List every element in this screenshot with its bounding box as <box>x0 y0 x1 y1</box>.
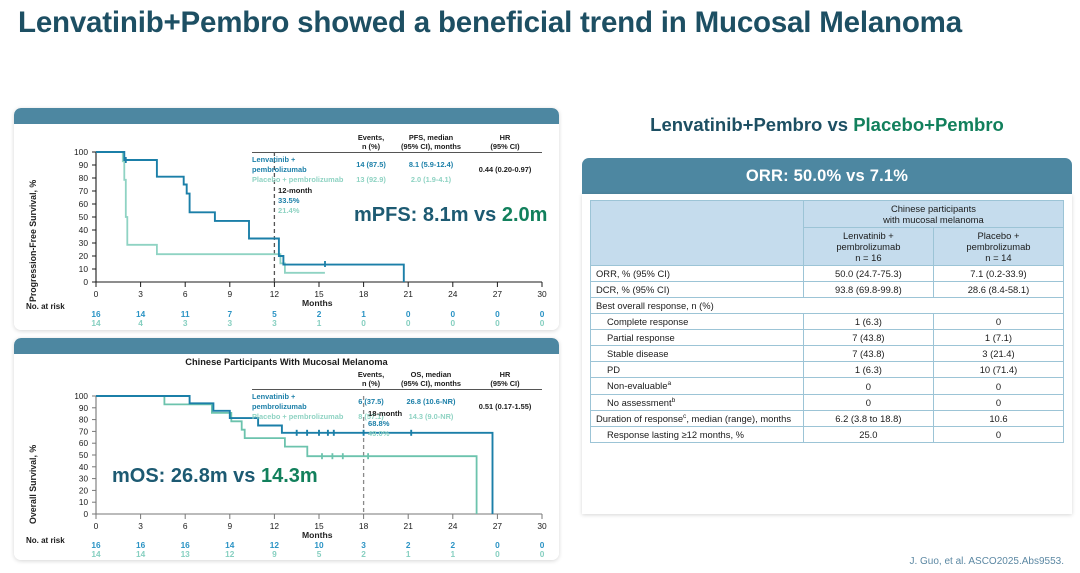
pfs-legend-name-placebo: Placebo + pembrolizumab <box>252 175 350 185</box>
table-header-group: Chinese participants with mucosal melano… <box>803 201 1063 228</box>
os-risk-plac-15: 5 <box>308 549 330 559</box>
row-label-best-overall-response: Best overall response, n (%) <box>591 298 1064 314</box>
svg-text:90: 90 <box>79 160 89 170</box>
pfs-risk-plac-12: 3 <box>263 318 285 328</box>
row-value-sd-placebo: 3 (21.4) <box>933 346 1063 362</box>
table-row: Stable disease 7 (43.8) 3 (21.4) <box>591 346 1064 362</box>
slide-root: Lenvatinib+Pembro showed a beneficial tr… <box>0 0 1080 573</box>
pfs-risk-plac-21: 0 <box>397 318 419 328</box>
os-callout-highlight: 14.3m <box>261 465 318 487</box>
table-row: Best overall response, n (%) <box>591 298 1064 314</box>
right-heading-part1: Lenvatinib+Pembro vs <box>650 114 853 135</box>
row-value-rl12-lenvatinib: 25.0 <box>803 426 933 442</box>
os-milestone-lenvatinib: 68.8% <box>368 419 402 429</box>
table-header-row-group: Chinese participants with mucosal melano… <box>591 201 1064 228</box>
row-value-na-lenvatinib: 0 <box>803 394 933 410</box>
svg-text:80: 80 <box>79 416 89 425</box>
svg-text:9: 9 <box>227 521 232 531</box>
response-table-head: Chinese participants with mucosal melano… <box>591 201 1064 266</box>
svg-text:12: 12 <box>270 521 280 531</box>
svg-text:40: 40 <box>79 225 89 235</box>
os-card-body: Chinese Participants With Mucosal Melano… <box>14 354 559 560</box>
svg-text:60: 60 <box>79 439 89 448</box>
right-heading-part2: Placebo+Pembro <box>853 114 1004 135</box>
pfs-legend-events-placebo: 13 (92.9) <box>350 175 392 185</box>
footnote-marker-b: b <box>672 397 676 404</box>
table-header-blank <box>591 201 804 266</box>
svg-text:18: 18 <box>359 289 369 299</box>
svg-text:20: 20 <box>79 486 89 495</box>
table-row: Non-evaluablea 0 0 <box>591 378 1064 394</box>
pfs-y-axis-label: Progression-Free Survival, % <box>28 180 38 302</box>
svg-text:30: 30 <box>79 475 89 484</box>
row-value-pd-lenvatinib: 1 (6.3) <box>803 362 933 378</box>
svg-text:40: 40 <box>79 463 89 472</box>
row-value-rl12-placebo: 0 <box>933 426 1063 442</box>
os-chart-subtitle: Chinese Participants With Mucosal Melano… <box>14 357 559 367</box>
svg-text:0: 0 <box>83 510 88 519</box>
os-legend-name-placebo: Placebo + pembrolizumab <box>252 412 350 422</box>
os-risk-plac-18: 2 <box>353 549 375 559</box>
pfs-card-header-bar <box>14 108 559 124</box>
os-chart-card: Chinese Participants With Mucosal Melano… <box>14 338 559 560</box>
os-y-axis-label: Overall Survival, % <box>28 445 38 524</box>
group-header-line1: Chinese participants <box>891 203 976 214</box>
os-milestone-annotation: 18-month 68.8% 49.0% <box>368 409 402 439</box>
orr-banner: ORR: 50.0% vs 7.1% <box>582 158 1072 194</box>
response-table-card: Chinese participants with mucosal melano… <box>582 194 1072 514</box>
table-row: Duration of responsec, median (range), m… <box>591 410 1064 426</box>
svg-text:0: 0 <box>94 521 99 531</box>
svg-text:12: 12 <box>270 289 280 299</box>
svg-text:80: 80 <box>79 173 89 183</box>
pfs-milestone-annotation: 12-month 33.5% 21.4% <box>278 186 312 216</box>
svg-text:30: 30 <box>537 289 547 299</box>
os-legend-header-row: Events, n (%) OS, median (95% CI), month… <box>252 371 542 388</box>
row-label-pd: PD <box>591 362 804 378</box>
pfs-x-axis-label: Months <box>302 298 333 308</box>
os-legend-row-placebo: Placebo + pembrolizumab 8 (57.1) 14.3 (9… <box>252 412 470 422</box>
response-table: Chinese participants with mucosal melano… <box>590 200 1064 443</box>
svg-text:0: 0 <box>94 289 99 299</box>
row-value-pr-placebo: 1 (7.1) <box>933 330 1063 346</box>
svg-text:60: 60 <box>79 199 89 209</box>
pfs-legend-header-row: Events, n (%) PFS, median (95% CI), mont… <box>252 134 542 151</box>
svg-text:20: 20 <box>79 251 89 261</box>
svg-text:27: 27 <box>493 289 503 299</box>
table-row: Response lasting ≥12 months, % 25.0 0 <box>591 426 1064 442</box>
os-risk-label: No. at risk <box>26 536 65 545</box>
os-risk-plac-30: 0 <box>531 549 553 559</box>
svg-text:27: 27 <box>493 521 503 531</box>
pfs-milestone-title: 12-month <box>278 186 312 196</box>
svg-text:9: 9 <box>227 289 232 299</box>
svg-text:21: 21 <box>404 521 414 531</box>
pfs-legend-rule <box>252 152 542 153</box>
os-legend-header-median: OS, median (95% CI), months <box>392 371 470 388</box>
row-value-dcr-lenvatinib: 93.8 (69.8-99.8) <box>803 282 933 298</box>
page-title: Lenvatinib+Pembro showed a beneficial tr… <box>18 6 1028 39</box>
os-risk-plac-12: 9 <box>263 549 285 559</box>
os-legend-rule <box>252 389 542 390</box>
table-row: Complete response 1 (6.3) 0 <box>591 314 1064 330</box>
row-label-no-assessment: No assessmentb <box>591 394 804 410</box>
pfs-legend-row-lenvatinib: Lenvatinib + pembrolizumab 14 (87.5) 8.1… <box>252 155 470 175</box>
row-value-dor-placebo: 10.6 <box>933 410 1063 426</box>
os-legend-median-placebo: 14.3 (9.0-NR) <box>392 412 470 422</box>
pfs-legend-header-median: PFS, median (95% CI), months <box>392 134 470 151</box>
row-value-dor-lenvatinib: 6.2 (3.8 to 18.8) <box>803 410 933 426</box>
row-label-dcr: DCR, % (95% CI) <box>591 282 804 298</box>
row-label-response-lasting-12mo: Response lasting ≥12 months, % <box>591 426 804 442</box>
svg-text:24: 24 <box>448 521 458 531</box>
row-value-dcr-placebo: 28.6 (8.4-58.1) <box>933 282 1063 298</box>
pfs-callout-highlight: 2.0m <box>502 204 548 226</box>
os-risk-plac-24: 1 <box>442 549 464 559</box>
svg-text:30: 30 <box>537 521 547 531</box>
table-row: ORR, % (95% CI) 50.0 (24.7-75.3) 7.1 (0.… <box>591 266 1064 282</box>
pfs-legend-header-events: Events, n (%) <box>350 134 392 151</box>
pfs-legend-row-placebo: Placebo + pembrolizumab 13 (92.9) 2.0 (1… <box>252 175 470 185</box>
pfs-legend-name-lenvatinib: Lenvatinib + pembrolizumab <box>252 155 350 175</box>
pfs-legend-events-lenvatinib: 14 (87.5) <box>350 160 392 170</box>
svg-text:21: 21 <box>404 289 414 299</box>
row-label-partial-response: Partial response <box>591 330 804 346</box>
os-risk-plac-21: 1 <box>397 549 419 559</box>
table-header-arm-placebo: Placebo + pembrolizumab n = 14 <box>933 228 1063 266</box>
pfs-legend-hr-value: 0.44 (0.20-0.97) <box>470 165 540 174</box>
os-risk-plac-0: 14 <box>85 549 107 559</box>
row-label-complete-response: Complete response <box>591 314 804 330</box>
os-risk-plac-3: 14 <box>130 549 152 559</box>
row-value-ne-placebo: 0 <box>933 378 1063 394</box>
table-row: PD 1 (6.3) 10 (71.4) <box>591 362 1064 378</box>
row-value-cr-placebo: 0 <box>933 314 1063 330</box>
os-risk-plac-27: 0 <box>486 549 508 559</box>
pfs-risk-plac-30: 0 <box>531 318 553 328</box>
svg-text:100: 100 <box>74 392 88 401</box>
row-value-sd-lenvatinib: 7 (43.8) <box>803 346 933 362</box>
svg-text:3: 3 <box>138 289 143 299</box>
pfs-risk-plac-15: 1 <box>308 318 330 328</box>
os-callout: mOS: 26.8m vs 14.3m <box>112 465 318 488</box>
os-legend-name-lenvatinib: Lenvatinib + pembrolizumab <box>252 392 350 412</box>
row-value-pd-placebo: 10 (71.4) <box>933 362 1063 378</box>
os-risk-plac-6: 13 <box>174 549 196 559</box>
footer-citation: J. Guo, et al. ASCO2025.Abs9553. <box>909 556 1064 567</box>
os-card-header-bar <box>14 338 559 354</box>
os-milestone-placebo: 49.0% <box>368 429 402 439</box>
response-table-body: ORR, % (95% CI) 50.0 (24.7-75.3) 7.1 (0.… <box>591 266 1064 442</box>
svg-text:100: 100 <box>74 147 88 157</box>
pfs-risk-plac-24: 0 <box>442 318 464 328</box>
svg-text:3: 3 <box>138 521 143 531</box>
pfs-risk-plac-27: 0 <box>486 318 508 328</box>
pfs-risk-label: No. at risk <box>26 302 65 311</box>
os-milestone-title: 18-month <box>368 409 402 419</box>
row-value-cr-lenvatinib: 1 (6.3) <box>803 314 933 330</box>
os-legend-header-hr: HR (95% CI) <box>470 371 540 388</box>
pfs-risk-plac-3: 4 <box>130 318 152 328</box>
pfs-card-body: Progression-Free Survival, % <box>14 124 559 330</box>
svg-text:10: 10 <box>79 264 89 274</box>
os-callout-prefix: mOS: 26.8m vs <box>112 465 261 487</box>
os-legend-events-lenvatinib: 6 (37.5) <box>350 397 392 407</box>
svg-text:30: 30 <box>79 238 89 248</box>
pfs-risk-plac-6: 3 <box>174 318 196 328</box>
row-label-stable-disease: Stable disease <box>591 346 804 362</box>
pfs-legend-header-hr: HR (95% CI) <box>470 134 540 151</box>
os-legend-row-lenvatinib: Lenvatinib + pembrolizumab 6 (37.5) 26.8… <box>252 392 470 412</box>
svg-text:50: 50 <box>79 451 89 460</box>
svg-text:6: 6 <box>183 521 188 531</box>
table-row: Partial response 7 (43.8) 1 (7.1) <box>591 330 1064 346</box>
pfs-legend-block: Events, n (%) PFS, median (95% CI), mont… <box>252 134 542 184</box>
svg-text:50: 50 <box>79 212 89 222</box>
pfs-risk-plac-9: 3 <box>219 318 241 328</box>
table-row: DCR, % (95% CI) 93.8 (69.8-99.8) 28.6 (8… <box>591 282 1064 298</box>
table-row: No assessmentb 0 0 <box>591 394 1064 410</box>
svg-text:6: 6 <box>183 289 188 299</box>
row-value-na-placebo: 0 <box>933 394 1063 410</box>
svg-text:10: 10 <box>79 498 89 507</box>
svg-text:0: 0 <box>83 277 88 287</box>
svg-text:90: 90 <box>79 404 89 413</box>
pfs-risk-plac-18: 0 <box>353 318 375 328</box>
pfs-callout-prefix: mPFS: 8.1m vs <box>354 204 502 226</box>
row-label-duration-of-response: Duration of responsec, median (range), m… <box>591 410 804 426</box>
footnote-marker-a: a <box>667 380 671 387</box>
pfs-milestone-lenvatinib: 33.5% <box>278 196 312 206</box>
pfs-legend-median-placebo: 2.0 (1.9-4.1) <box>392 175 470 185</box>
pfs-legend-median-lenvatinib: 8.1 (5.9-12.4) <box>392 160 470 170</box>
group-header-line2: with mucosal melanoma <box>883 214 984 225</box>
os-legend-median-lenvatinib: 26.8 (10.6-NR) <box>392 397 470 407</box>
row-value-orr-lenvatinib: 50.0 (24.7-75.3) <box>803 266 933 282</box>
os-x-axis-label: Months <box>302 530 333 540</box>
svg-text:18: 18 <box>359 521 369 531</box>
pfs-callout: mPFS: 8.1m vs 2.0m <box>354 204 547 227</box>
row-label-non-evaluable: Non-evaluablea <box>591 378 804 394</box>
row-value-orr-placebo: 7.1 (0.2-33.9) <box>933 266 1063 282</box>
right-panel-heading: Lenvatinib+Pembro vs Placebo+Pembro <box>578 114 1076 136</box>
svg-text:70: 70 <box>79 427 89 436</box>
svg-text:24: 24 <box>448 289 458 299</box>
row-value-pr-lenvatinib: 7 (43.8) <box>803 330 933 346</box>
svg-text:70: 70 <box>79 186 89 196</box>
os-risk-plac-9: 12 <box>219 549 241 559</box>
os-legend-header-events: Events, n (%) <box>350 371 392 388</box>
row-label-orr: ORR, % (95% CI) <box>591 266 804 282</box>
pfs-risk-plac-0: 14 <box>85 318 107 328</box>
row-value-ne-lenvatinib: 0 <box>803 378 933 394</box>
pfs-chart-card: Progression-Free Survival, % <box>14 108 559 330</box>
os-legend-hr-value: 0.51 (0.17-1.55) <box>470 402 540 411</box>
table-header-arm-lenvatinib: Lenvatinib + pembrolizumab n = 16 <box>803 228 933 266</box>
pfs-milestone-placebo: 21.4% <box>278 206 312 216</box>
